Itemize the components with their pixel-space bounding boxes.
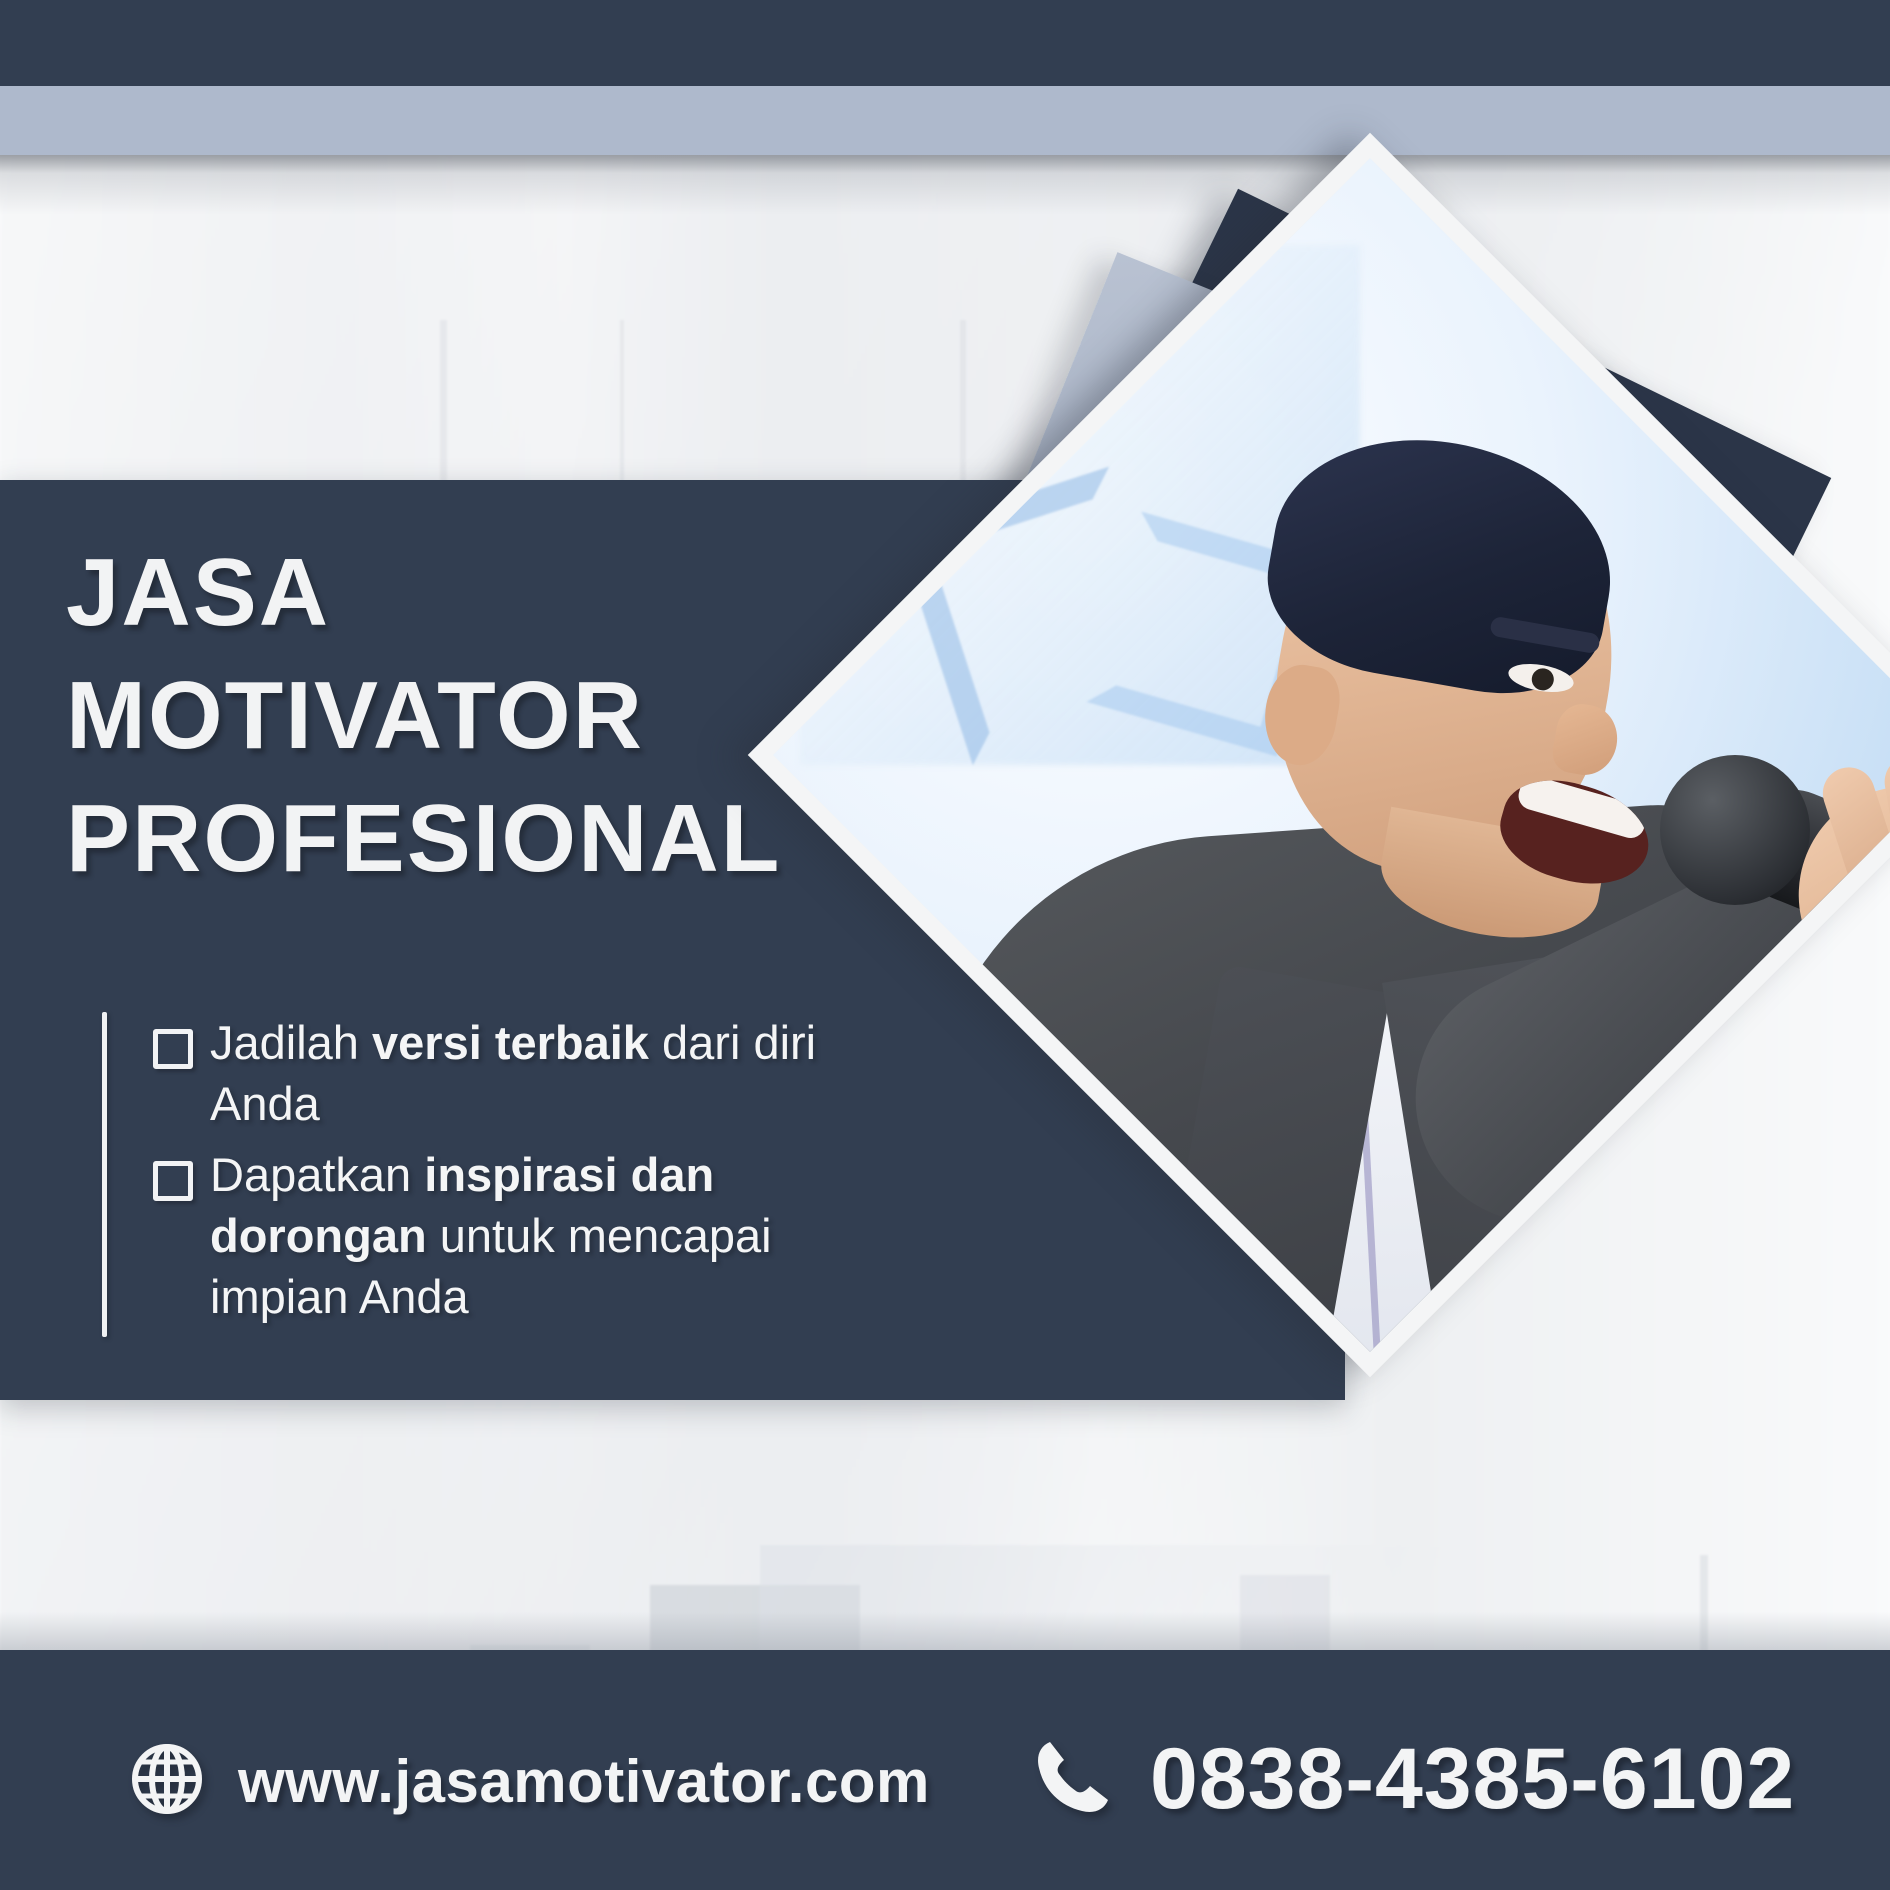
website-url: www.jasamotivator.com	[238, 1747, 930, 1816]
footer-shadow	[0, 1612, 1890, 1652]
globe-icon	[130, 1742, 204, 1821]
checkbox-square-icon	[153, 1161, 193, 1201]
top-bar-shadow	[0, 155, 1890, 215]
benefit-2-pre: Dapatkan	[210, 1148, 424, 1201]
website-contact[interactable]: www.jasamotivator.com	[130, 1742, 930, 1821]
photo-microphone-head	[1660, 755, 1810, 905]
phone-icon	[1030, 1734, 1116, 1825]
top-navy-bar	[0, 0, 1890, 86]
list-item-text: Jadilah versi terbaik dari diri Anda	[210, 1012, 922, 1134]
benefit-1-strong: versi terbaik	[372, 1016, 649, 1069]
checkbox-square-icon	[153, 1029, 193, 1069]
phone-contact[interactable]: 0838-4385-6102	[1030, 1730, 1795, 1829]
list-item: Jadilah versi terbaik dari diri Anda	[153, 1012, 922, 1134]
benefits-list: Jadilah versi terbaik dari diri Anda Dap…	[102, 1012, 922, 1337]
list-item: Dapatkan inspirasi dan dorongan untuk me…	[153, 1144, 922, 1327]
top-steel-bar	[0, 86, 1890, 155]
promotional-banner: JASA MOTIVATOR PROFESIONAL Jadilah versi…	[0, 0, 1890, 1890]
list-item-text: Dapatkan inspirasi dan dorongan untuk me…	[210, 1144, 922, 1327]
benefit-1-pre: Jadilah	[210, 1016, 372, 1069]
photo-pupil	[1530, 667, 1555, 692]
phone-number: 0838-4385-6102	[1150, 1730, 1795, 1829]
list-accent-rule	[102, 1012, 107, 1337]
